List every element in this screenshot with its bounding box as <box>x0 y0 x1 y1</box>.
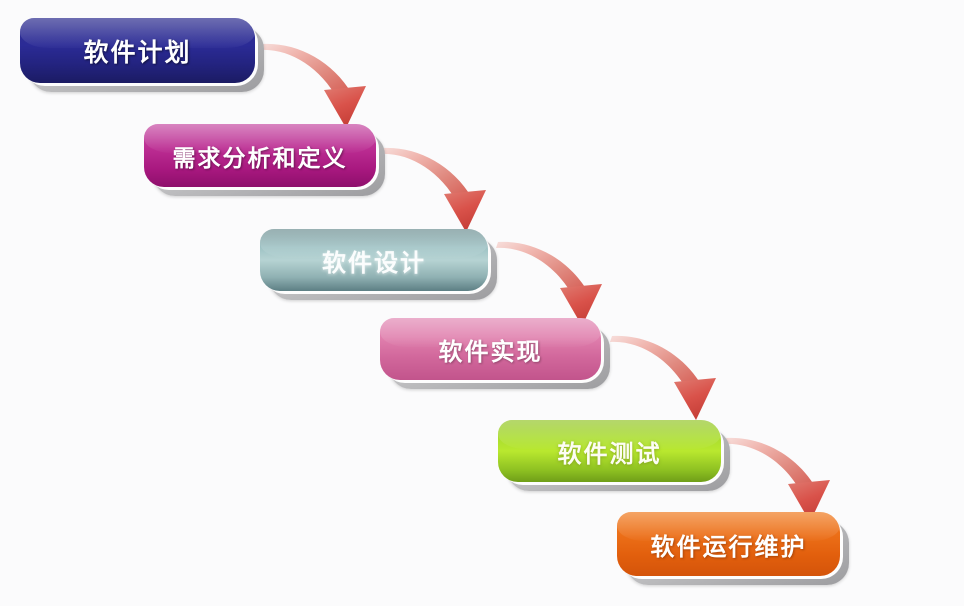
stage-box-requirements-analysis[interactable]: 需求分析和定义 <box>144 124 376 187</box>
waterfall-diagram: 软件计划 需求分析和定义 软件设计 软件实现 软件测试 软件运行维护 <box>0 0 964 606</box>
stage-box-software-design[interactable]: 软件设计 <box>260 229 488 291</box>
stage-label: 软件测试 <box>558 434 662 469</box>
stage-label: 需求分析和定义 <box>173 139 348 173</box>
stage-pill: 软件计划 <box>20 18 255 83</box>
arrow-stage1-to-stage2 <box>260 44 366 128</box>
arrow-stage2-to-stage3 <box>380 148 486 232</box>
arrow-stage3-to-stage4 <box>496 242 602 326</box>
stage-pill: 软件运行维护 <box>617 512 840 576</box>
arrow-stage4-to-stage5 <box>610 336 716 420</box>
stage-label: 软件设计 <box>322 243 426 278</box>
stage-label: 软件实现 <box>439 332 543 367</box>
stage-box-operation-maintenance[interactable]: 软件运行维护 <box>617 512 840 576</box>
stage-pill: 软件设计 <box>260 229 488 291</box>
stage-pill: 需求分析和定义 <box>144 124 376 187</box>
stage-pill: 软件实现 <box>380 318 601 380</box>
stage-label: 软件运行维护 <box>651 527 807 562</box>
stage-pill: 软件测试 <box>498 420 721 482</box>
stage-box-software-planning[interactable]: 软件计划 <box>20 18 255 83</box>
stage-label: 软件计划 <box>83 33 191 69</box>
stage-box-software-implementation[interactable]: 软件实现 <box>380 318 601 380</box>
arrow-stage5-to-stage6 <box>724 438 830 522</box>
stage-box-software-testing[interactable]: 软件测试 <box>498 420 721 482</box>
